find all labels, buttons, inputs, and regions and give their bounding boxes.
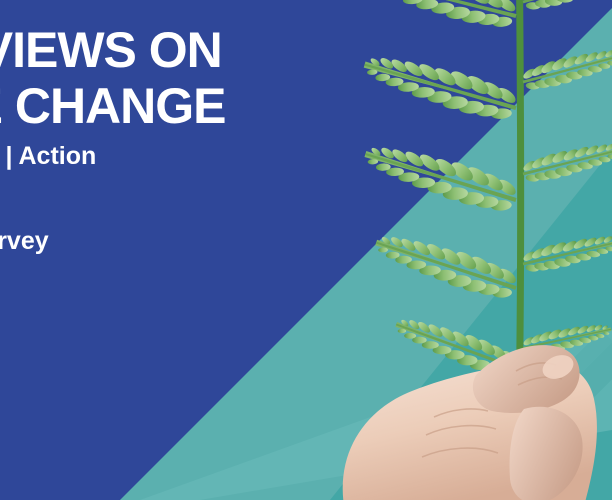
cover-slide: BAL VIEWS ON MATE CHANGE nformation | Ac… <box>0 0 612 500</box>
title-line-1: BAL VIEWS ON <box>0 22 222 78</box>
page-title: BAL VIEWS ON MATE CHANGE <box>0 22 508 134</box>
text-layer: BAL VIEWS ON MATE CHANGE nformation | Ac… <box>0 0 612 500</box>
title-line-2: MATE CHANGE <box>0 78 508 134</box>
year-label: 23 <box>0 325 508 353</box>
page-subtitle: nformation | Action <box>0 141 508 171</box>
survey-label: Advisor survey <box>0 226 508 256</box>
